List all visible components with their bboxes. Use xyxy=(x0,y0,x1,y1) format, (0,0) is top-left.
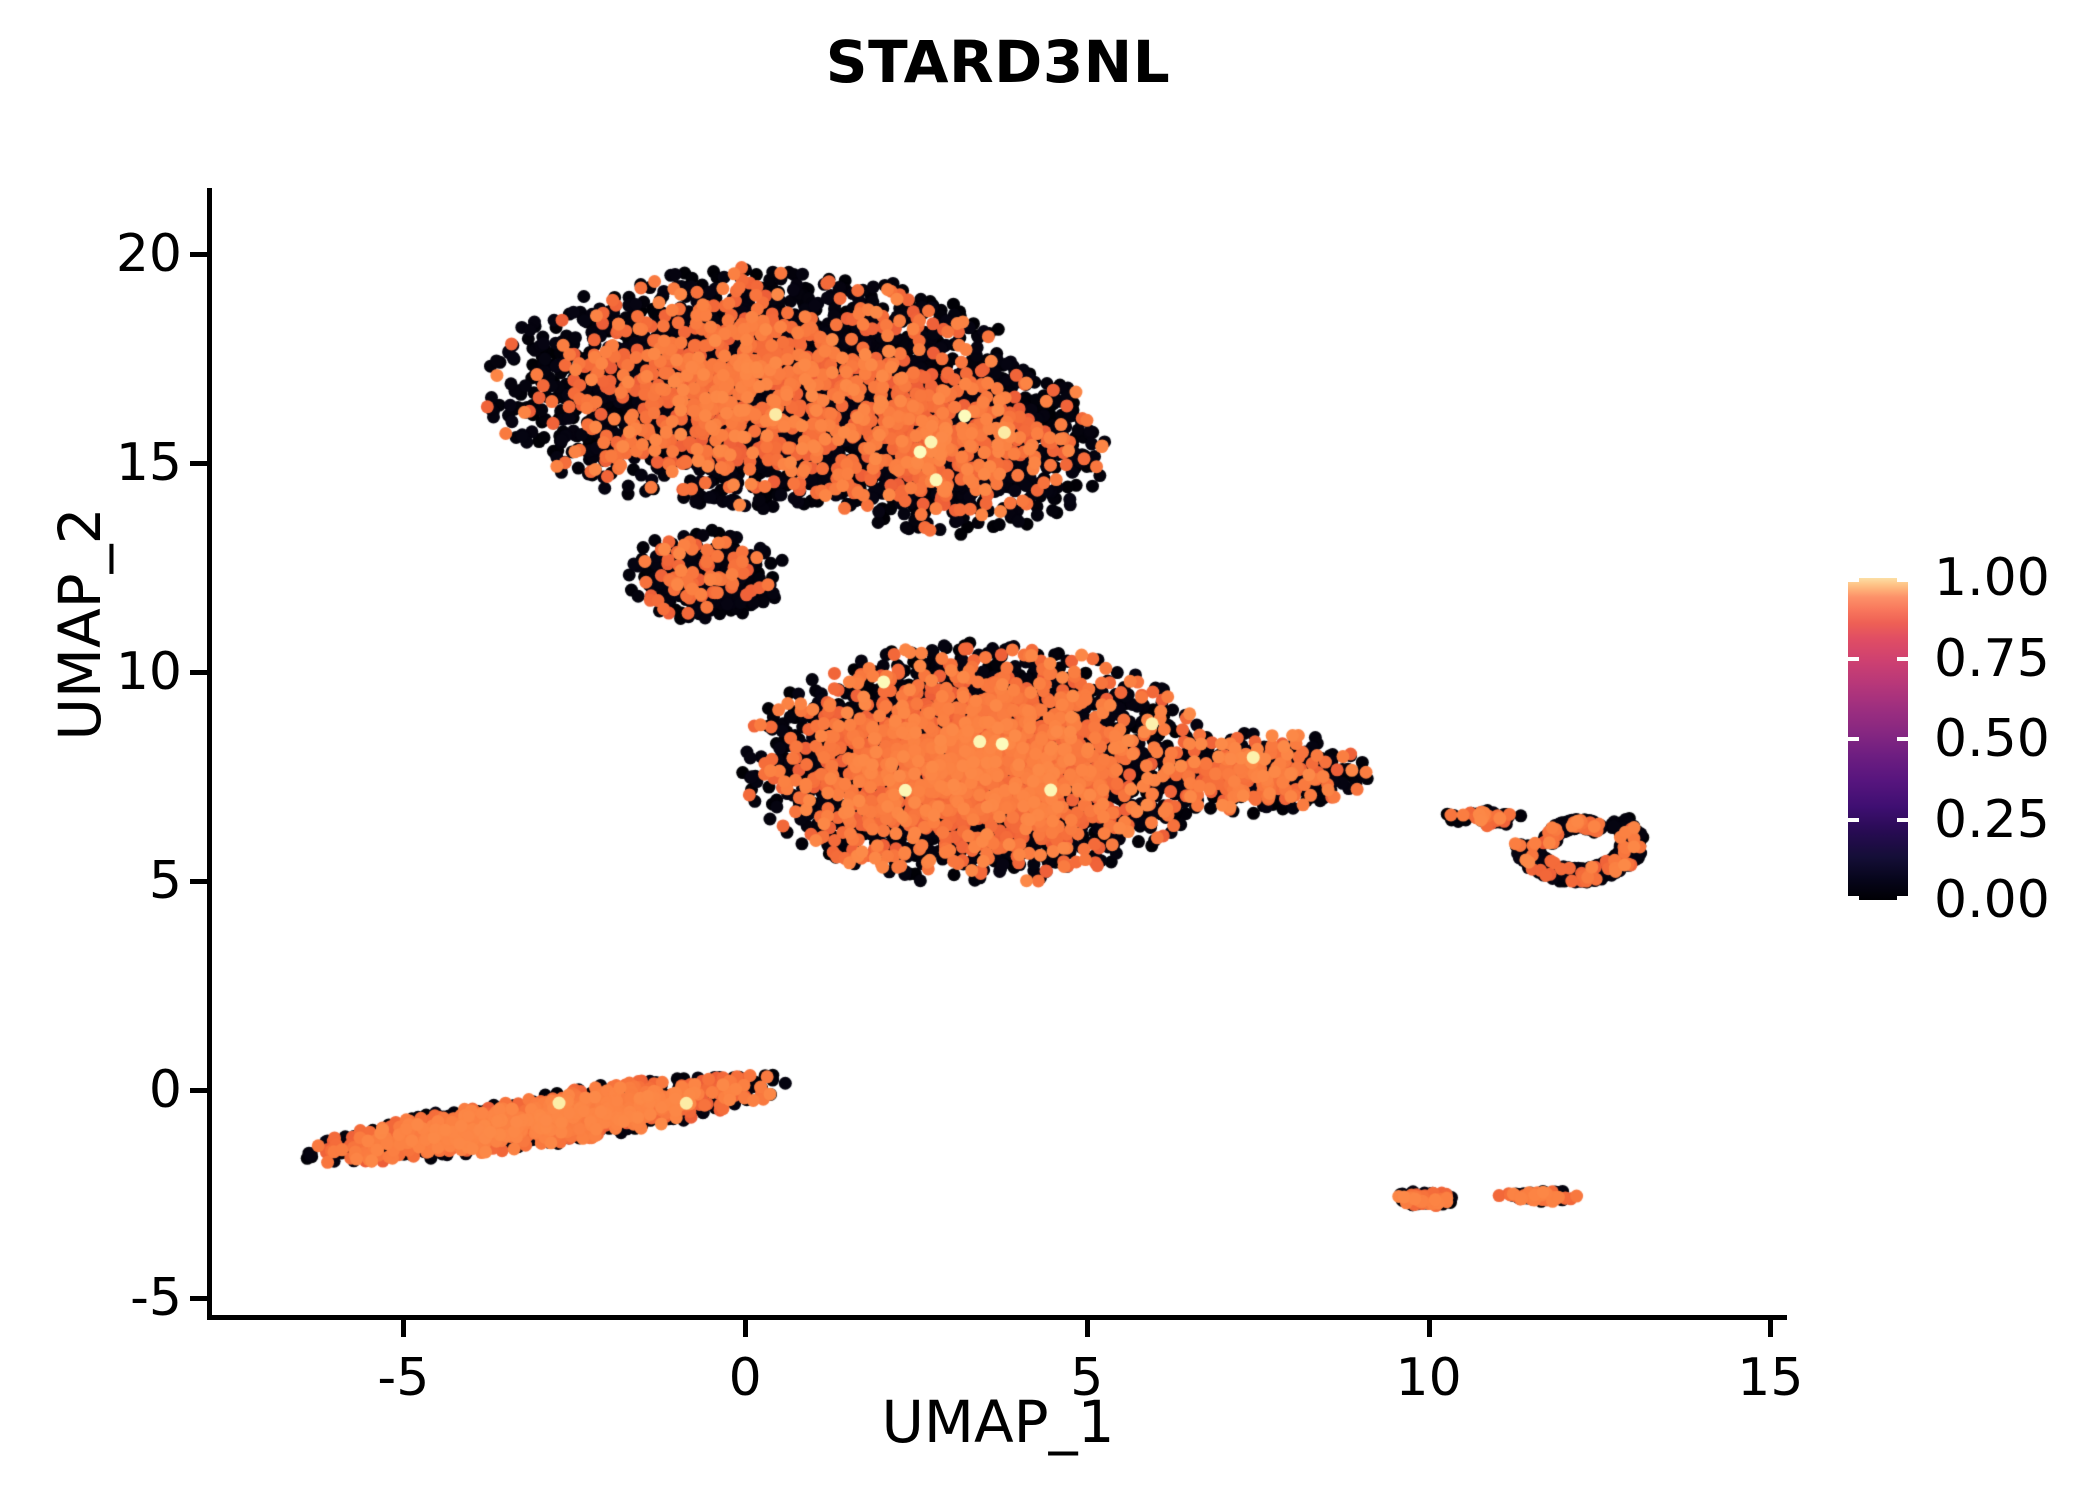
y-tick-label: 20 xyxy=(116,224,182,284)
colorbar-tick-mark xyxy=(1897,818,1908,822)
y-tick-label: 10 xyxy=(116,642,182,702)
colorbar-tick-mark xyxy=(1897,578,1908,582)
plot-axes: -505101520-5051015 xyxy=(212,196,1784,1315)
x-tick-mark xyxy=(1768,1320,1773,1337)
colorbar-tick-label: 0.75 xyxy=(1934,629,2050,689)
y-tick-label: -5 xyxy=(130,1268,182,1328)
scatter-plot-area xyxy=(212,196,1784,1315)
colorbar-tick-mark xyxy=(1897,896,1908,900)
colorbar-tick-mark xyxy=(1848,578,1859,582)
colorbar-tick-label: 0.00 xyxy=(1934,870,2050,930)
colorbar: 0.000.250.500.751.00 xyxy=(1848,578,2098,900)
colorbar-tick-mark xyxy=(1897,657,1908,661)
y-tick-label: 0 xyxy=(149,1060,182,1120)
colorbar-tick-mark xyxy=(1848,818,1859,822)
y-tick-mark xyxy=(190,1296,207,1301)
y-tick-mark xyxy=(190,461,207,466)
y-axis-label: UMAP_2 xyxy=(46,184,114,1064)
y-tick-mark xyxy=(190,879,207,884)
x-axis-label: UMAP_1 xyxy=(212,1388,1784,1456)
x-axis-spine xyxy=(207,1315,1787,1320)
y-tick-mark xyxy=(190,670,207,675)
x-tick-mark xyxy=(401,1320,406,1337)
colorbar-tick-mark xyxy=(1848,896,1859,900)
y-tick-label: 5 xyxy=(149,851,182,911)
x-tick-mark xyxy=(743,1320,748,1337)
colorbar-tick-label: 0.25 xyxy=(1934,790,2050,850)
x-tick-mark xyxy=(1085,1320,1090,1337)
y-tick-label: 15 xyxy=(116,433,182,493)
figure-canvas: STARD3NL -505101520-5051015 UMAP_1 UMAP_… xyxy=(0,0,2100,1500)
colorbar-tick-mark xyxy=(1897,737,1908,741)
colorbar-tick-label: 1.00 xyxy=(1934,548,2050,608)
page-title: STARD3NL xyxy=(212,28,1784,96)
colorbar-tick-mark xyxy=(1848,657,1859,661)
colorbar-tick-mark xyxy=(1848,737,1859,741)
y-tick-mark xyxy=(190,1088,207,1093)
y-tick-mark xyxy=(190,252,207,257)
x-tick-mark xyxy=(1427,1320,1432,1337)
colorbar-tick-label: 0.50 xyxy=(1934,709,2050,769)
